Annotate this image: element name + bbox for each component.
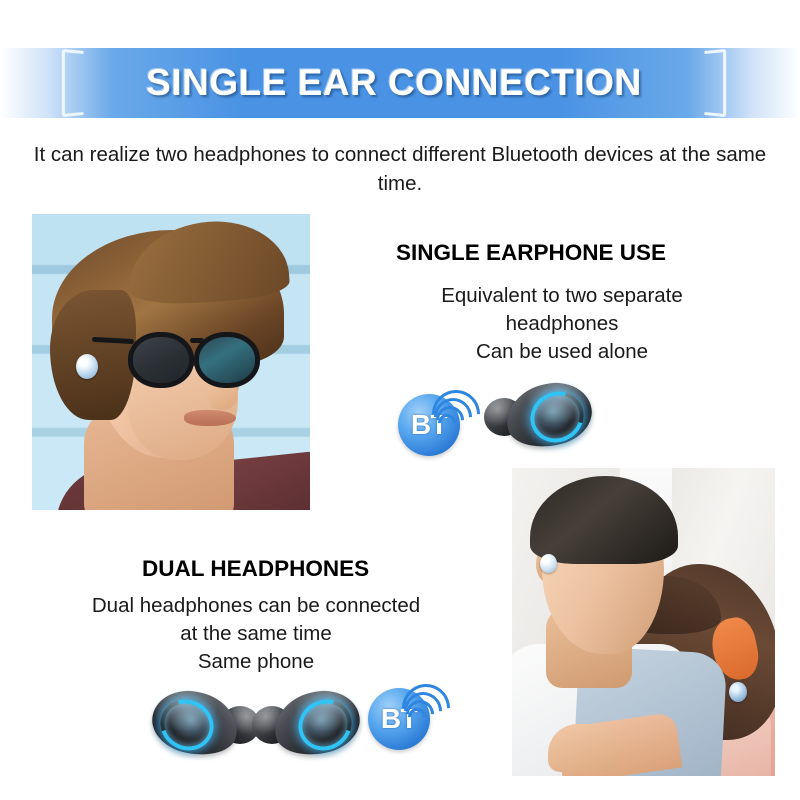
- bluetooth-badge-dual: BT: [368, 688, 430, 750]
- photo-man-with-earbud: [32, 214, 310, 510]
- photo-man-hand: [548, 724, 620, 772]
- earbud-graphic-dual-right: [252, 690, 360, 756]
- photo-man-earbud: [76, 354, 98, 379]
- photo-man-glasses-left-lens: [128, 332, 194, 388]
- photo-man-hair-side: [50, 290, 136, 420]
- earbud-graphic-single: [484, 382, 592, 448]
- section-body-line: Equivalent to two separate: [372, 282, 752, 310]
- section-heading-dual-headphones: DUAL HEADPHONES: [142, 556, 369, 582]
- photo-man-glasses-right-lens: [194, 332, 260, 388]
- section-body-single-earphone: Equivalent to two separate headphones Ca…: [372, 282, 752, 366]
- section-body-dual-headphones: Dual headphones can be connected at the …: [46, 592, 466, 676]
- earbud-graphic-dual-left: [152, 690, 260, 756]
- bluetooth-badge-single: BT: [398, 394, 460, 456]
- section-body-line: headphones: [372, 310, 752, 338]
- section-body-line: at the same time: [46, 620, 466, 648]
- page-title: SINGLE EAR CONNECTION: [62, 50, 726, 116]
- photo-man-lips: [184, 410, 236, 426]
- section-body-line: Same phone: [46, 648, 466, 676]
- section-body-line: Can be used alone: [372, 338, 752, 366]
- section-body-line: Dual headphones can be connected: [46, 592, 466, 620]
- photo-woman-earbud: [729, 682, 747, 702]
- header-banner: SINGLE EAR CONNECTION: [0, 48, 800, 118]
- photo-man-earbud-couple: [540, 554, 557, 573]
- page-subtitle: It can realize two headphones to connect…: [20, 140, 780, 198]
- section-heading-single-earphone: SINGLE EARPHONE USE: [396, 240, 666, 266]
- photo-couple-with-earbuds: [512, 468, 775, 776]
- banner-frame: SINGLE EAR CONNECTION: [62, 50, 726, 116]
